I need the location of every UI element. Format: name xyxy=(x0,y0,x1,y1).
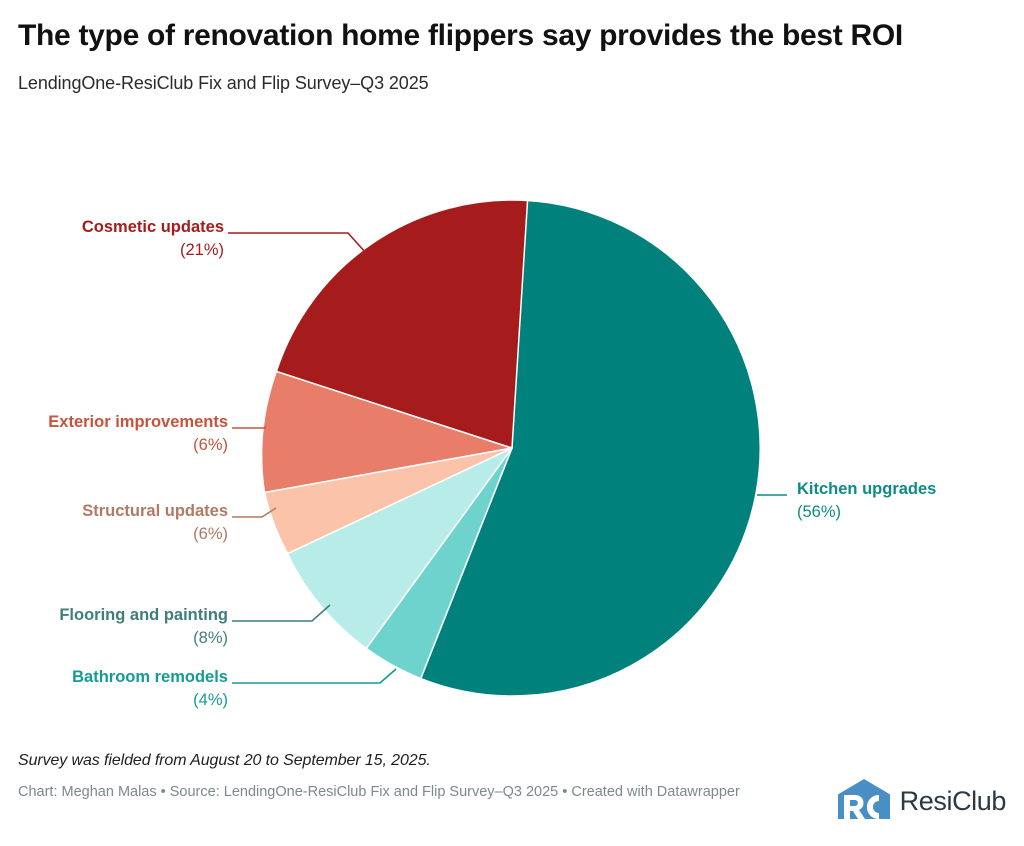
slice-label-flooring-and-painting-name: Flooring and painting xyxy=(59,606,228,624)
chart-subtitle: LendingOne-ResiClub Fix and Flip Survey–… xyxy=(18,73,1006,94)
leader-line-cosmetic-updates xyxy=(228,233,366,253)
slice-label-kitchen-upgrades-pct: (56%) xyxy=(797,501,936,524)
slice-label-structural-updates-name: Structural updates xyxy=(82,502,228,520)
slice-label-bathroom-remodels[interactable]: Bathroom remodels (4%) xyxy=(72,666,228,712)
leader-line-bathroom-remodels xyxy=(232,669,396,683)
slice-label-kitchen-upgrades-name: Kitchen upgrades xyxy=(797,480,936,498)
chart-container: The type of renovation home flippers say… xyxy=(0,0,1024,846)
resiclub-wordmark: ResiClub xyxy=(900,786,1006,817)
slice-label-exterior-improvements-name: Exterior improvements xyxy=(48,413,228,431)
chart-title: The type of renovation home flippers say… xyxy=(18,18,978,53)
slice-label-structural-updates-pct: (6%) xyxy=(82,523,228,546)
pie-chart-plot-area: Cosmetic updates (21%) Exterior improvem… xyxy=(0,165,1024,735)
slice-label-cosmetic-updates-name: Cosmetic updates xyxy=(82,218,224,236)
slice-label-cosmetic-updates[interactable]: Cosmetic updates (21%) xyxy=(82,216,224,262)
slice-label-exterior-improvements[interactable]: Exterior improvements (6%) xyxy=(48,411,228,457)
slice-label-flooring-and-painting[interactable]: Flooring and painting (8%) xyxy=(59,604,228,650)
leader-line-flooring-and-painting xyxy=(232,605,330,621)
slice-label-bathroom-remodels-name: Bathroom remodels xyxy=(72,668,228,686)
slice-label-bathroom-remodels-pct: (4%) xyxy=(72,689,228,712)
chart-footer: Survey was fielded from August 20 to Sep… xyxy=(18,752,818,803)
slice-label-flooring-and-painting-pct: (8%) xyxy=(59,627,228,650)
pie-slices xyxy=(262,200,761,696)
slice-label-structural-updates[interactable]: Structural updates (6%) xyxy=(82,500,228,546)
footer-credit: Chart: Meghan Malas • Source: LendingOne… xyxy=(18,783,808,803)
resiclub-monogram-icon xyxy=(837,778,891,825)
slice-label-exterior-improvements-pct: (6%) xyxy=(48,434,228,457)
slice-label-kitchen-upgrades[interactable]: Kitchen upgrades (56%) xyxy=(797,478,936,524)
chart-header: The type of renovation home flippers say… xyxy=(18,18,1006,94)
footer-survey-note: Survey was fielded from August 20 to Sep… xyxy=(18,752,818,770)
resiclub-logo[interactable]: ResiClub xyxy=(837,778,1006,825)
slice-label-cosmetic-updates-pct: (21%) xyxy=(82,239,224,262)
